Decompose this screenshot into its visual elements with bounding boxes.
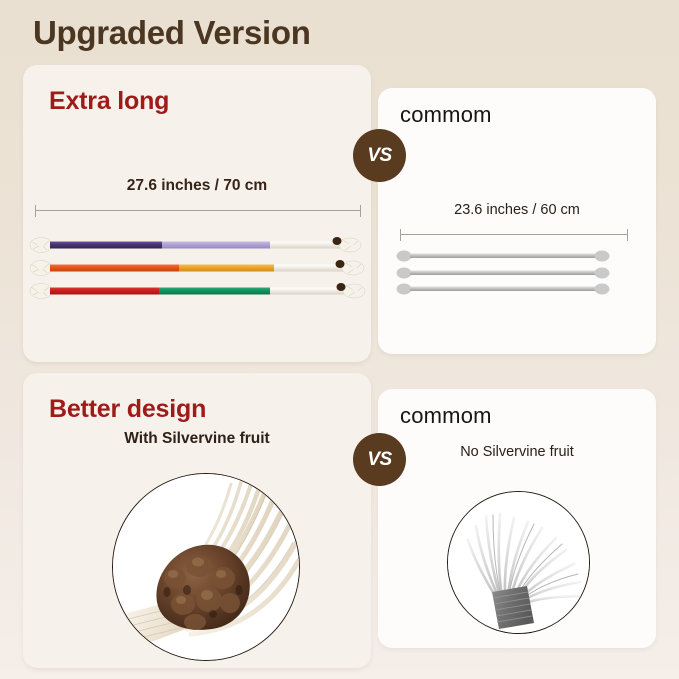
silvervine-bead bbox=[337, 283, 346, 291]
strand-purple bbox=[30, 237, 361, 253]
vs-badge-bottom: VS bbox=[353, 433, 406, 486]
tassel-right-1 bbox=[333, 237, 362, 252]
tassel-left-1 bbox=[30, 238, 52, 253]
photo-silvervine-fruit bbox=[112, 473, 300, 661]
silvervine-bead bbox=[333, 237, 342, 245]
card-upgraded-design: Better design With Silvervine fruit bbox=[23, 373, 371, 668]
photo-plain-tassel bbox=[447, 491, 590, 634]
sublabel-no-silvervine-fruit: No Silvervine fruit bbox=[378, 444, 656, 460]
card-upgraded-length: Extra long 27.6 inches / 70 cm bbox=[23, 65, 371, 362]
gray-strand-1 bbox=[397, 251, 610, 262]
card-common-design: commom No Silvervine fruit bbox=[378, 389, 656, 648]
tassel-right-2 bbox=[336, 260, 365, 275]
tassel-left-2 bbox=[30, 261, 52, 276]
gray-strand-3 bbox=[397, 284, 610, 295]
tassel-right-3 bbox=[337, 283, 366, 298]
sublabel-with-silvervine-fruit: With Silvervine fruit bbox=[23, 430, 371, 448]
card-heading-common-design: commom bbox=[400, 403, 492, 429]
card-common-length: commom 23.6 inches / 60 cm bbox=[378, 88, 656, 354]
silvervine-fruit-on-tassel-photo bbox=[113, 474, 299, 660]
strand-green bbox=[30, 283, 365, 299]
tassel-cuff bbox=[492, 586, 534, 629]
colored-rope-strands-illustration bbox=[23, 65, 371, 362]
gray-rope-strands-illustration bbox=[378, 88, 656, 354]
strand-orange bbox=[30, 260, 364, 276]
page-title: Upgraded Version bbox=[33, 14, 311, 52]
gray-strand-2 bbox=[397, 268, 610, 279]
vs-badge-top: VS bbox=[353, 129, 406, 182]
card-heading-better-design: Better design bbox=[49, 395, 206, 424]
plain-gray-tassel-photo bbox=[448, 492, 589, 633]
tassel-left-3 bbox=[30, 284, 52, 299]
silvervine-bead bbox=[336, 260, 345, 268]
